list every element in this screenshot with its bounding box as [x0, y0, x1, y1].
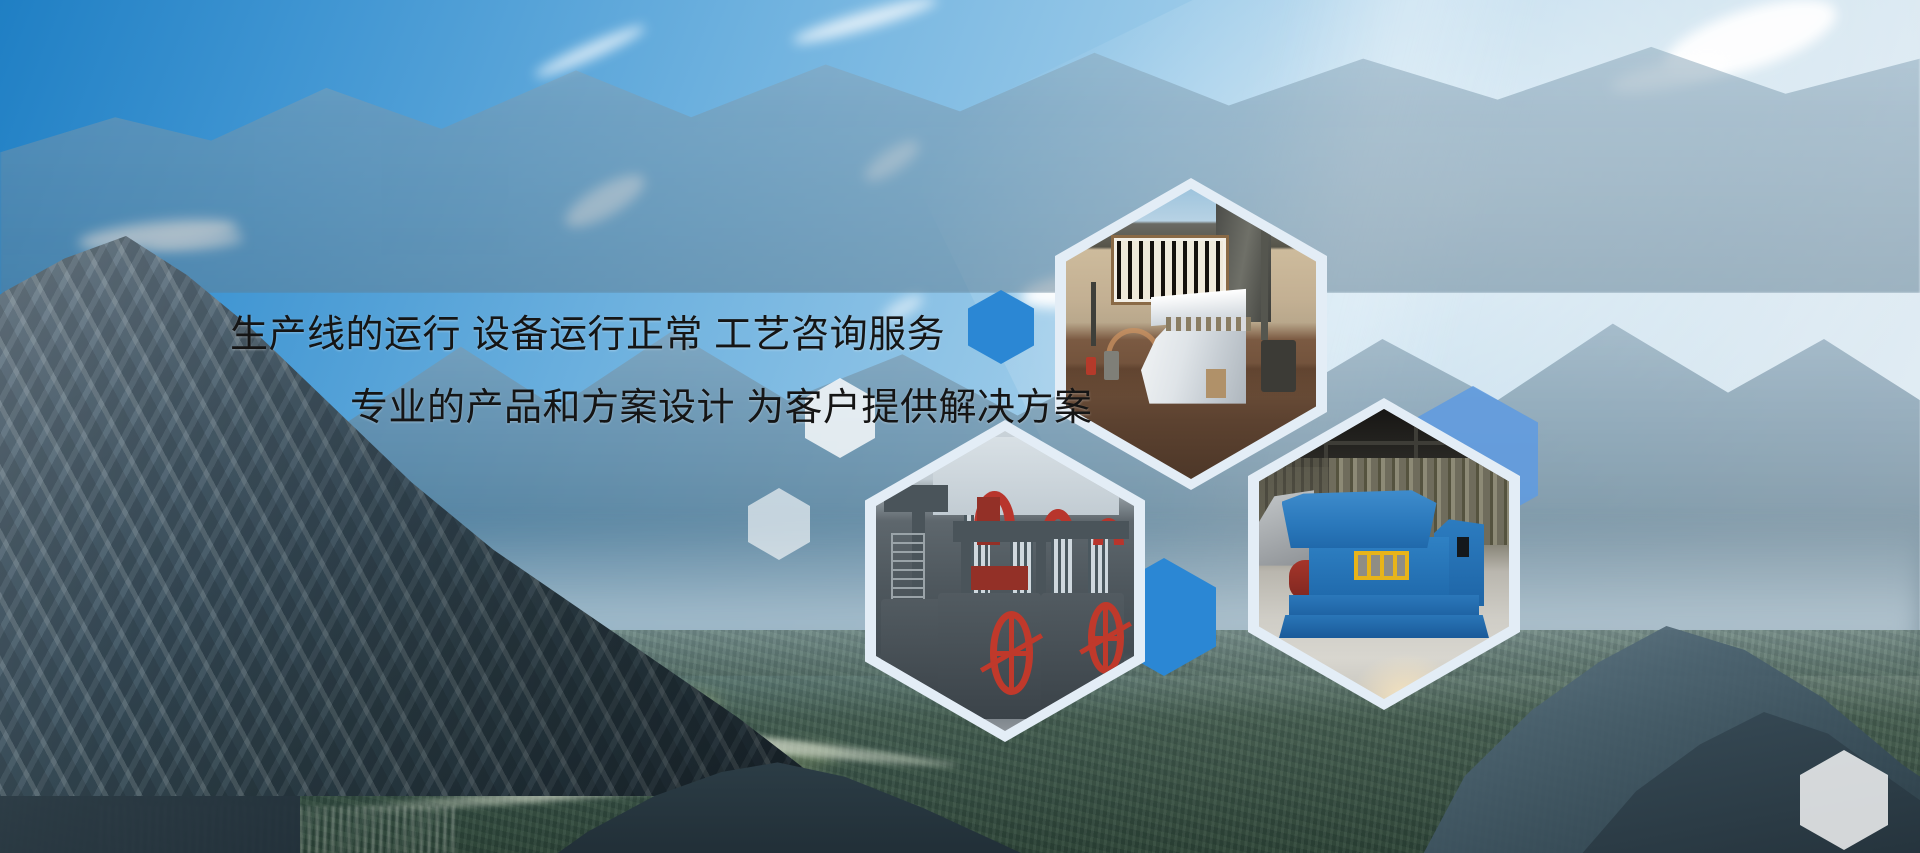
photo-press-line: [876, 431, 1134, 731]
headline-line-2: 专业的产品和方案设计 为客户提供解决方案: [0, 389, 1160, 427]
blue-hopper: [1282, 490, 1437, 548]
wheel-spoke: [1095, 636, 1117, 641]
building-post: [1261, 206, 1268, 339]
headline-line-1: 生产线的运行 设备运行正常 工艺咨询服务: [0, 316, 1160, 354]
red-panel: [971, 566, 1028, 590]
red-handwheel: [990, 611, 1034, 695]
dark-drum: [1261, 340, 1296, 392]
steel-beam: [1046, 521, 1129, 539]
hex-photo-center-inner: [876, 431, 1134, 731]
yellow-guard-rail: [1354, 551, 1409, 580]
window-bars: [1117, 241, 1223, 299]
wheel-spoke: [997, 651, 1027, 656]
cabinet-window: [1457, 537, 1470, 557]
ladle-flange-bolts: [1166, 317, 1251, 332]
red-handwheel: [1088, 602, 1124, 674]
hex-photo-right-inner: [1259, 409, 1509, 699]
photo-blue-shredder: [1259, 409, 1509, 699]
roof-truss: [1284, 441, 1484, 445]
headline-block: 生产线的运行 设备运行正常 工艺咨询服务 专业的产品和方案设计 为客户提供解决方…: [0, 316, 1160, 427]
control-box: [1206, 369, 1226, 398]
hero-banner: 生产线的运行 设备运行正常 工艺咨询服务 专业的产品和方案设计 为客户提供解决方…: [0, 0, 1920, 853]
machine-skid: [1279, 615, 1489, 638]
